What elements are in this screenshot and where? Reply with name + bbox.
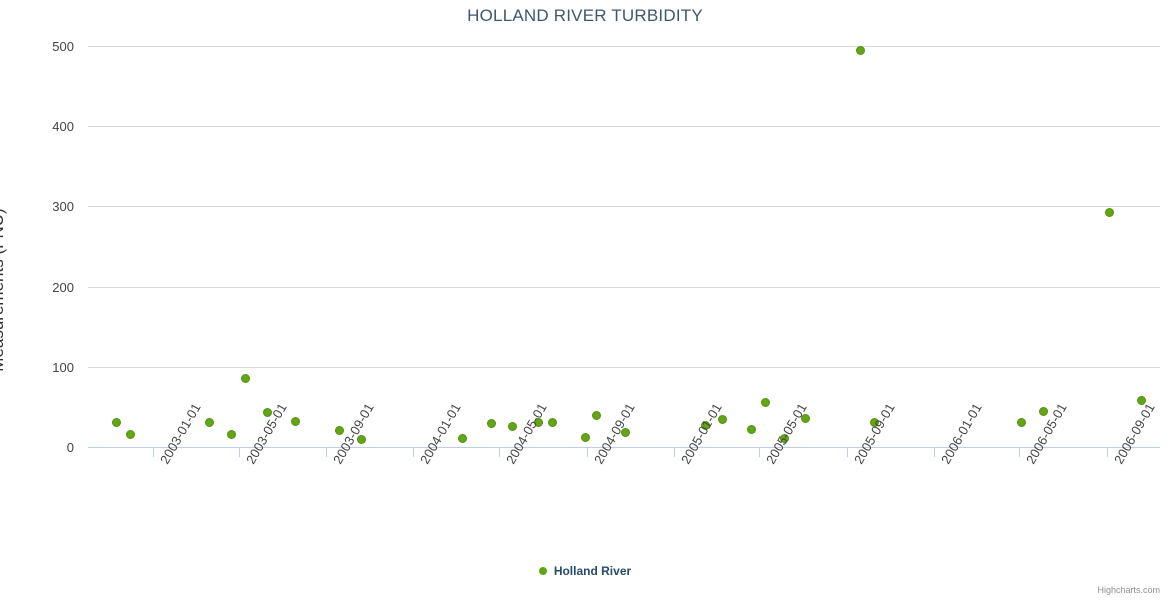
data-point[interactable] bbox=[241, 374, 250, 383]
y-axis-tick-label: 300 bbox=[14, 200, 74, 213]
data-point[interactable] bbox=[581, 433, 590, 442]
y-axis-title: Measurements (FNU) bbox=[0, 160, 8, 420]
y-axis-tick-label: 100 bbox=[14, 361, 74, 374]
data-point[interactable] bbox=[205, 418, 214, 427]
chart-legend: Holland River bbox=[0, 563, 1170, 578]
x-axis-tick bbox=[1019, 448, 1020, 457]
data-point[interactable] bbox=[126, 430, 135, 439]
plot-area bbox=[88, 46, 1160, 447]
data-point[interactable] bbox=[592, 411, 601, 420]
y-axis-tick-label: 500 bbox=[14, 40, 74, 53]
data-point[interactable] bbox=[761, 398, 770, 407]
x-axis-tick bbox=[326, 448, 327, 457]
y-gridline bbox=[88, 206, 1160, 207]
y-axis-labels: 0100200300400500 bbox=[14, 46, 74, 447]
data-point[interactable] bbox=[112, 418, 121, 427]
data-point[interactable] bbox=[227, 430, 236, 439]
y-axis-tick-label: 0 bbox=[14, 441, 74, 454]
chart-title: HOLLAND RIVER TURBIDITY bbox=[0, 6, 1170, 26]
legend-marker-icon bbox=[539, 567, 547, 575]
data-point[interactable] bbox=[856, 46, 865, 55]
data-point[interactable] bbox=[508, 422, 517, 431]
y-axis-tick-label: 400 bbox=[14, 120, 74, 133]
data-point[interactable] bbox=[747, 425, 756, 434]
credits-label[interactable]: Highcharts.com bbox=[1097, 585, 1160, 595]
data-point[interactable] bbox=[291, 417, 300, 426]
x-axis-tick bbox=[499, 448, 500, 457]
x-axis-tick bbox=[847, 448, 848, 457]
y-axis-tick-label: 200 bbox=[14, 281, 74, 294]
x-axis-tick bbox=[759, 448, 760, 457]
y-gridline bbox=[88, 287, 1160, 288]
data-point[interactable] bbox=[487, 419, 496, 428]
x-axis-tick bbox=[934, 448, 935, 457]
x-axis-tick bbox=[413, 448, 414, 457]
y-gridline bbox=[88, 126, 1160, 127]
data-point[interactable] bbox=[1017, 418, 1026, 427]
x-axis-tick bbox=[587, 448, 588, 457]
data-point[interactable] bbox=[1105, 208, 1114, 217]
x-axis-tick bbox=[153, 448, 154, 457]
x-axis-tick bbox=[239, 448, 240, 457]
data-point[interactable] bbox=[458, 434, 467, 443]
legend-item-label: Holland River bbox=[554, 564, 631, 578]
legend-item-holland-river[interactable]: Holland River bbox=[539, 563, 631, 578]
y-gridline bbox=[88, 367, 1160, 368]
data-point[interactable] bbox=[548, 418, 557, 427]
x-axis-tick bbox=[1107, 448, 1108, 457]
chart-container: HOLLAND RIVER TURBIDITY Measurements (FN… bbox=[0, 0, 1170, 600]
x-axis-tick bbox=[674, 448, 675, 457]
y-gridline bbox=[88, 46, 1160, 47]
